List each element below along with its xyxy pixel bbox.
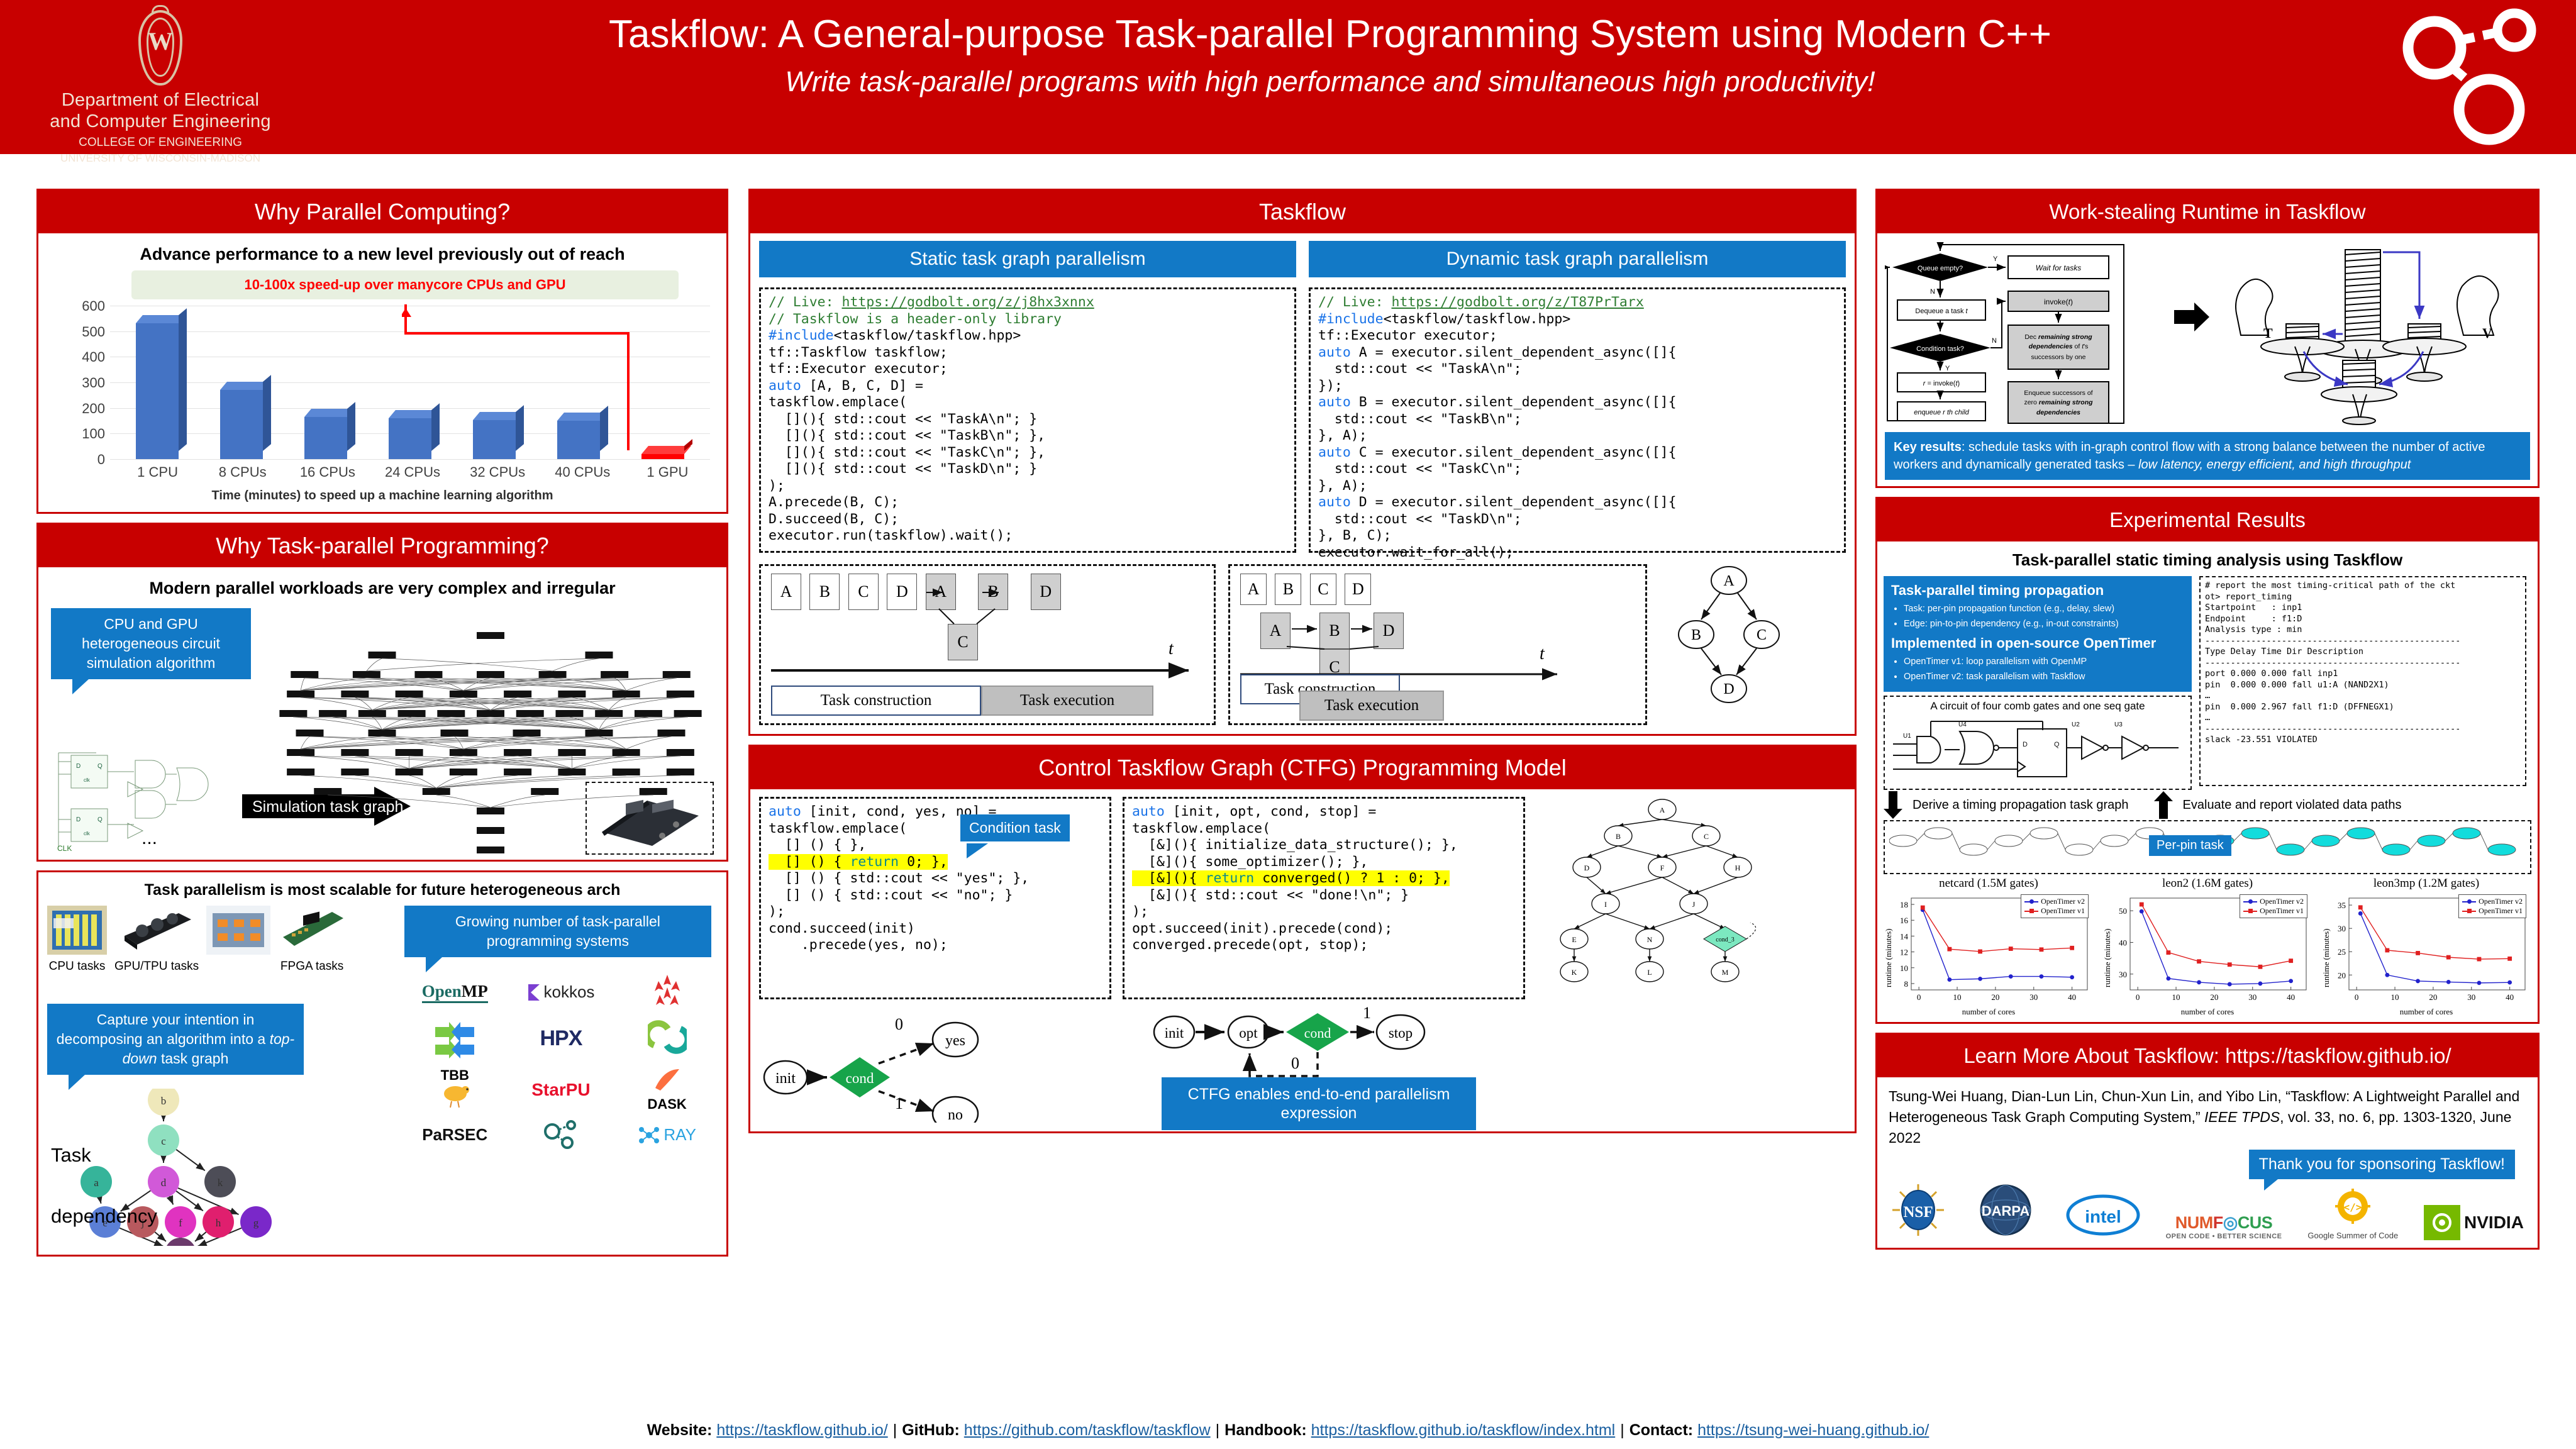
up-arrow-icon <box>2154 791 2173 819</box>
hw-label-fpga: FPGA tasks <box>278 960 346 974</box>
svg-text:35: 35 <box>2338 901 2346 910</box>
box-heading-1: Task-parallel timing propagation <box>1891 582 2184 599</box>
box-heading-2: Implemented in open-source OpenTimer <box>1891 635 2184 652</box>
y-tick-label: 100 <box>50 426 105 442</box>
svg-text:C: C <box>1704 832 1709 841</box>
svg-text:intel: intel <box>2085 1207 2121 1226</box>
poster-header: W Department of Electrical and Computer … <box>0 0 2576 154</box>
gate-label-u1: U1 <box>1903 733 1911 740</box>
footer-website-label: Website: <box>647 1421 713 1440</box>
svg-text:8: 8 <box>1904 979 1909 989</box>
colored-task-graph: Task dependency bcadkejfhgi <box>47 1089 398 1246</box>
label-evaluate-report: Evaluate and report violated data paths <box>2183 798 2402 813</box>
chart-plot: runtime (minutes)20253035010203040OpenTi… <box>2323 892 2530 1006</box>
bullet-task: Task: per-pin propagation function (e.g.… <box>1904 602 2184 615</box>
callout-tail-icon <box>967 843 992 860</box>
edge-label-0: 0 <box>895 1015 903 1033</box>
code-dynamic-task-graph: // Live: https://godbolt.org/z/T87PrTarx… <box>1309 287 1846 553</box>
down-arrow-icon <box>1884 791 1902 819</box>
x-tick-label: 32 CPUs <box>460 464 535 480</box>
bullet-v1: OpenTimer v1: loop parallelism with Open… <box>1904 655 2184 668</box>
svg-text:dependencies: dependencies <box>2036 409 2080 416</box>
flow-n-1: N <box>1930 288 1935 296</box>
tab-static-task-graph[interactable]: Static task graph parallelism <box>759 241 1296 277</box>
university-line: UNIVERSITY OF WISCONSIN-MADISON <box>38 151 283 166</box>
chart-legend: OpenTimer v2OpenTimer v1 <box>2021 894 2089 918</box>
label-task-construction: Task construction <box>771 686 981 716</box>
flow-enqueue-succ: Enqueue successors of <box>2024 389 2092 397</box>
circuit-diagram-box: A circuit of four comb gates and one seq… <box>1884 696 2192 790</box>
panel-heading: Why Parallel Computing? <box>38 191 726 233</box>
clk-label: CLK <box>57 844 72 853</box>
svg-text:50: 50 <box>2119 906 2127 916</box>
callout-heterogeneous-sim: CPU and GPU heterogeneous circuit simula… <box>51 608 251 679</box>
circuit-caption: A circuit of four comb gates and one seq… <box>1889 700 2186 713</box>
x-axis-title: number of cores <box>2104 1007 2311 1017</box>
panel-task-parallelism-scalable: Task parallelism is most scalable for fu… <box>36 870 728 1257</box>
flow-r-invoke: r = invoke(t) <box>1923 380 1960 387</box>
gpu-card-photo <box>121 906 193 955</box>
bar-8-cpus <box>220 390 263 459</box>
gate-label-u2: U2 <box>2072 721 2080 728</box>
chart-annotation-box: 10-100x speed-up over manycore CPUs and … <box>131 270 679 299</box>
svg-text:clk: clk <box>84 831 91 836</box>
chart-annotation-text: 10-100x speed-up over manycore CPUs and … <box>131 270 679 299</box>
svg-text:H: H <box>1735 863 1741 872</box>
dept-line-1: Department of Electrical <box>38 89 283 111</box>
node-cond: cond <box>846 1070 874 1086</box>
svg-text:12: 12 <box>1900 948 1908 957</box>
poster-root: W Department of Electrical and Computer … <box>0 0 2576 1449</box>
timing-propagation-box: Task-parallel timing propagation Task: p… <box>1884 576 2192 692</box>
svg-text:30: 30 <box>2248 992 2257 1002</box>
numfocus-tagline: OPEN CODE • BETTER SCIENCE <box>2166 1233 2282 1240</box>
poster-subtitle: Write task-parallel programs with high p… <box>296 58 2365 101</box>
logo-starpu: StarPU <box>531 1080 590 1100</box>
panel-subhead: Task parallelism is most scalable for fu… <box>47 881 718 899</box>
y-axis-title: runtime (minutes) <box>2102 928 2112 987</box>
svg-text:0: 0 <box>1917 992 1921 1002</box>
legend-swatch <box>2243 901 2257 902</box>
logo-google-summer-of-code: </> Google Summer of Code <box>2307 1189 2398 1240</box>
chart-plot: runtime (minutes)304050010203040OpenTime… <box>2104 892 2311 1006</box>
key-results-label: Key results <box>1894 440 1962 454</box>
middle-column: Taskflow Static task graph parallelism /… <box>748 189 1857 1142</box>
panel-heading: Experimental Results <box>1877 499 2538 541</box>
per-pin-task-graph: Per-pin task <box>1884 820 2531 874</box>
logo-kokkos: kokkos <box>527 982 594 1002</box>
svg-text:b: b <box>161 1095 167 1107</box>
flow-wait: Wait for tasks <box>2036 264 2081 272</box>
right-arrow-icon <box>2174 303 2211 331</box>
footer-handbook-label: Handbook: <box>1224 1421 1307 1440</box>
circuit-schematic-icon: D Q <box>1889 713 2182 779</box>
pin-d: D <box>2023 741 2028 748</box>
key-results-emphasis: low latency, energy efficient, and high … <box>2138 458 2411 472</box>
svg-text:f: f <box>179 1217 182 1229</box>
callout-growing-systems: Growing number of task-parallel programm… <box>404 906 711 957</box>
logo-ray: RAY <box>638 1124 696 1146</box>
svg-text:40: 40 <box>2287 992 2295 1002</box>
cpu-die-photo <box>47 906 107 955</box>
x-axis-labels: 1 CPU8 CPUs16 CPUs24 CPUs32 CPUs40 CPUs1… <box>115 464 710 480</box>
panel-subhead: Advance performance to a new level previ… <box>47 245 718 264</box>
callout-condition-task: Condition task <box>960 814 1070 841</box>
svg-text:D: D <box>76 816 80 823</box>
left-column: Why Parallel Computing? Advance performa… <box>36 189 728 1265</box>
svg-text:c: c <box>161 1135 166 1147</box>
legend-swatch <box>2024 901 2038 902</box>
chart-caption: Time (minutes) to speed up a machine lea… <box>50 489 715 503</box>
x-tick-label: 8 CPUs <box>206 464 280 480</box>
hardware-thumbnails: CPU tasks GPU/TPU tasks <box>47 906 398 974</box>
logo-nsf: NSF <box>1891 1183 1945 1240</box>
flow-dec: Dec remaining strong <box>2024 333 2092 341</box>
footer-separator: | <box>1211 1421 1225 1440</box>
svg-text:K: K <box>1572 968 1577 977</box>
footer-separator: | <box>1615 1421 1629 1440</box>
svg-text:25: 25 <box>2338 947 2346 957</box>
code-ctfg-loop: auto [init, opt, cond, stop] = taskflow.… <box>1123 797 1525 999</box>
dependency-label: dependency <box>51 1205 157 1228</box>
logo-taskflow-small <box>542 1118 580 1152</box>
legend-item: OpenTimer v2 <box>2024 897 2085 906</box>
logo-parsec: PaRSEC <box>422 1125 487 1145</box>
timeline-static: A B C D A B D C <box>759 564 1216 725</box>
nvidia-wordmark: NVIDIA <box>2464 1213 2524 1233</box>
time-axis-label: t <box>1540 644 1545 663</box>
legend-item: OpenTimer v1 <box>2462 906 2523 916</box>
bullet-v2: OpenTimer v2: task parallelism with Task… <box>1904 670 2184 683</box>
y-tick-label: 400 <box>50 349 105 365</box>
footer-separator: | <box>888 1421 902 1440</box>
flow-dequeue: Dequeue a task t <box>1915 308 1968 315</box>
y-tick-label: 200 <box>50 401 105 417</box>
svg-text:30: 30 <box>2119 970 2127 979</box>
gate-label-u4: U4 <box>1958 721 1967 728</box>
svg-text:18: 18 <box>1900 900 1908 909</box>
fpga-board-photo <box>586 782 714 855</box>
work-stealing-flowchart: Queue empty? Wait for tasks Dequeue a ta… <box>1885 240 2212 426</box>
logo-cilk <box>433 1016 477 1062</box>
university-logo: W Department of Electrical and Computer … <box>38 5 283 150</box>
node-stop: stop <box>1389 1025 1413 1041</box>
dag-node-b: B <box>1691 627 1701 643</box>
godbolt-link-dynamic[interactable]: https://godbolt.org/z/T87PrTarx <box>1392 294 1644 310</box>
footer-github-link[interactable]: https://github.com/taskflow/taskflow <box>964 1421 1211 1440</box>
svg-text:</>: </> <box>2344 1201 2362 1213</box>
label-task-execution: Task execution <box>981 686 1153 716</box>
svg-text:A: A <box>1660 806 1665 814</box>
code-comment-live: // Live: <box>1318 294 1392 310</box>
panel-heading: Taskflow <box>750 191 1855 233</box>
pin-q: Q <box>2054 741 2060 748</box>
footer-contact-link[interactable]: https://tsung-wei-huang.github.io/ <box>1697 1421 1929 1440</box>
svg-text:20: 20 <box>2429 992 2437 1002</box>
footer-website-link[interactable]: https://taskflow.github.io/ <box>716 1421 887 1440</box>
node-opt: opt <box>1239 1025 1258 1041</box>
y-axis-title: runtime (minutes) <box>1884 928 1894 987</box>
svg-text:10: 10 <box>2391 992 2399 1002</box>
legend-item: OpenTimer v1 <box>2243 906 2304 916</box>
code-dynamic-body: #include<taskflow/taskflow.hpp> tf::Exec… <box>1318 311 1677 560</box>
svg-text:20: 20 <box>2210 992 2218 1002</box>
callout-per-pin-task: Per-pin task <box>2149 835 2231 856</box>
svg-text:10: 10 <box>2172 992 2180 1002</box>
svg-text:30: 30 <box>2338 924 2346 933</box>
crest-letter: W <box>136 26 185 56</box>
panel-taskflow: Taskflow Static task graph parallelism /… <box>748 189 1857 736</box>
poster-footer: Website: https://taskflow.github.io/ | G… <box>0 1411 2576 1449</box>
callout-capture-intention: Capture your intention in decomposing an… <box>47 1004 304 1075</box>
svg-text:L: L <box>1647 968 1652 977</box>
annotation-arrow-icon <box>402 298 666 465</box>
y-tick-label: 0 <box>50 452 105 468</box>
panel-heading: Why Task-parallel Programming? <box>38 525 726 567</box>
logo-charm <box>648 1020 687 1057</box>
reference-journal: IEEE TPDS <box>2204 1109 2280 1125</box>
system-logos: OpenMP kokkos <box>404 974 718 1152</box>
poster-title: Taskflow: A General-purpose Task-paralle… <box>296 5 2365 58</box>
svg-text:40: 40 <box>2068 992 2076 1002</box>
label-derive-task-graph: Derive a timing propagation task graph <box>1913 798 2129 813</box>
svg-text:d: d <box>161 1177 167 1189</box>
right-column: Work-stealing Runtime in Taskflow Queue … <box>1875 189 2540 1258</box>
logo-darpa: DARPA <box>1971 1183 2040 1240</box>
legend-label: OpenTimer v1 <box>2041 906 2085 916</box>
bar-1-cpu <box>136 323 179 459</box>
panel-subhead: Task-parallel static timing analysis usi… <box>1884 550 2531 570</box>
task-dag-abcd: A B C D <box>1660 564 1798 709</box>
svg-text:DARPA: DARPA <box>1982 1203 2030 1219</box>
svg-text:N: N <box>1647 935 1653 944</box>
logo-legion <box>650 974 685 1011</box>
svg-text:a: a <box>94 1177 99 1189</box>
time-axis-label: t <box>1169 639 1174 658</box>
node-yes: yes <box>945 1033 965 1049</box>
fpga-photo <box>278 906 346 955</box>
panel-heading: Work-stealing Runtime in Taskflow <box>1877 191 2538 233</box>
footer-handbook-link[interactable]: https://taskflow.github.io/taskflow/inde… <box>1311 1421 1616 1440</box>
node-init: init <box>1165 1025 1184 1041</box>
footer-github-label: GitHub: <box>902 1421 960 1440</box>
logo-nvidia: NVIDIA <box>2424 1205 2524 1240</box>
node-init: init <box>775 1070 796 1087</box>
edge-label-1: 1 <box>895 1094 903 1113</box>
uw-crest-icon: W <box>136 5 185 87</box>
svg-text:successors by one: successors by one <box>2031 353 2086 361</box>
task-label: Task <box>51 1144 91 1167</box>
svg-text:Q: Q <box>97 763 103 770</box>
line-charts-row: netcard (1.5M gates)runtime (minutes)810… <box>1884 874 2531 1017</box>
legend-swatch <box>2024 911 2038 912</box>
svg-text:10: 10 <box>1900 963 1908 973</box>
footer-contact-label: Contact: <box>1629 1421 1693 1440</box>
gate-label-u3: U3 <box>2114 721 2123 728</box>
legend-label: OpenTimer v2 <box>2041 897 2085 906</box>
code-comment-live: // Live: <box>769 294 842 310</box>
panel-heading: Control Taskflow Graph (CTFG) Programmin… <box>750 747 1855 789</box>
panel-learn-more: Learn More About Taskflow: https://taskf… <box>1875 1033 2540 1250</box>
y-tick-label: 500 <box>50 324 105 340</box>
svg-text:D: D <box>76 763 80 770</box>
ctfg-full-graph: ABCDFHIJENcond_3KLM <box>1536 797 1838 999</box>
legend-label: OpenTimer v2 <box>2260 897 2304 906</box>
callout-text-pre: Capture your intention in decomposing an… <box>57 1011 270 1047</box>
ellipsis-label: ... <box>142 828 157 849</box>
node-no: no <box>948 1107 963 1123</box>
worker-label-t: T <box>2263 325 2273 341</box>
svg-text:zero remaining strong: zero remaining strong <box>2024 399 2093 406</box>
legend-item: OpenTimer v2 <box>2243 897 2304 906</box>
flow-y-2: Y <box>1945 365 1950 372</box>
svg-text:cond_3: cond_3 <box>1716 936 1734 943</box>
panel-heading: Learn More About Taskflow: https://taskf… <box>1877 1035 2538 1077</box>
line-chart-leon2: leon2 (1.6M gates)runtime (minutes)30405… <box>2104 877 2311 1017</box>
x-tick-label: 40 CPUs <box>545 464 619 480</box>
bullet-edge: Edge: pin-to-pin dependency (e.g., in-ou… <box>1904 618 2184 630</box>
svg-text:I: I <box>1604 900 1607 909</box>
edge-label-0: 0 <box>1291 1054 1299 1072</box>
svg-text:E: E <box>1572 935 1576 944</box>
taskflow-logo-icon <box>2368 4 2557 148</box>
x-axis-title: number of cores <box>2323 1007 2530 1017</box>
svg-text:20: 20 <box>1991 992 1999 1002</box>
title-block: Taskflow: A General-purpose Task-paralle… <box>296 5 2365 101</box>
line-chart-netcard: netcard (1.5M gates)runtime (minutes)810… <box>1885 877 2092 1017</box>
y-tick-label: 600 <box>50 298 105 314</box>
logo-numfocus: NUMF◎CUS OPEN CODE • BETTER SCIENCE <box>2166 1213 2282 1240</box>
chart-legend: OpenTimer v2OpenTimer v1 <box>2458 894 2526 918</box>
panel-why-parallel-computing: Why Parallel Computing? Advance performa… <box>36 189 728 514</box>
svg-text:M: M <box>1722 968 1729 977</box>
svg-text:30: 30 <box>2029 992 2038 1002</box>
svg-text:Q: Q <box>97 816 103 823</box>
x-tick-label: 24 CPUs <box>375 464 450 480</box>
thanks-banner: Thank you for sponsoring Taskflow! <box>2249 1150 2515 1179</box>
hw-label-gpu: GPU/TPU tasks <box>114 960 199 974</box>
y-axis-title: runtime (minutes) <box>2321 928 2331 987</box>
flow-n-2: N <box>1992 337 1997 345</box>
logo-hpx: HPX <box>540 1026 582 1051</box>
legend-label: OpenTimer v2 <box>2479 897 2523 906</box>
line-chart-leon3mp: leon3mp (1.2M gates)runtime (minutes)202… <box>2323 877 2530 1017</box>
banner-ctfg-parallelism: CTFG enables end-to-end parallelism expr… <box>1162 1077 1476 1130</box>
chart-plot: runtime (minutes)81012141618010203040Ope… <box>1885 892 2092 1006</box>
x-axis-title: number of cores <box>1885 1007 2092 1017</box>
code-static-body: #include<taskflow/taskflow.hpp> tf::Task… <box>769 328 1045 543</box>
godbolt-link-static[interactable]: https://godbolt.org/z/j8hx3xnnx <box>842 294 1094 310</box>
chart-legend: OpenTimer v2OpenTimer v1 <box>2240 894 2307 918</box>
flow-condition: Condition task? <box>1916 345 1964 353</box>
logo-intel: intel <box>2066 1193 2140 1240</box>
legend-item: OpenTimer v1 <box>2024 906 2085 916</box>
dag-node-c: C <box>1757 627 1767 643</box>
flow-invoke: invoke(t) <box>2044 297 2073 306</box>
dept-line-2: and Computer Engineering <box>38 111 283 132</box>
svg-text:J: J <box>1692 900 1696 909</box>
key-results-banner: Key results: schedule tasks with in-grap… <box>1885 432 2530 480</box>
svg-text:g: g <box>253 1217 259 1229</box>
legend-label: OpenTimer v1 <box>2479 906 2523 916</box>
x-tick-label: 1 CPU <box>121 464 195 480</box>
x-tick-label: 16 CPUs <box>291 464 365 480</box>
tab-dynamic-task-graph[interactable]: Dynamic task graph parallelism <box>1309 241 1846 277</box>
svg-text:NSF: NSF <box>1903 1204 1933 1221</box>
legend-swatch <box>2462 911 2476 912</box>
svg-text:h: h <box>216 1217 221 1229</box>
hw-label-cpu: CPU tasks <box>47 960 107 974</box>
label-task-execution: Task execution <box>1299 691 1444 721</box>
svg-text:0: 0 <box>2136 992 2140 1002</box>
college-line: COLLEGE OF ENGINEERING <box>38 135 283 151</box>
svg-text:B: B <box>1616 832 1621 841</box>
svg-text:20: 20 <box>2338 970 2346 980</box>
tpu-photo <box>206 906 270 955</box>
code-comment-header-only: // Taskflow is a header-only library <box>769 311 1062 327</box>
logo-tbb: TBB <box>436 1067 473 1112</box>
svg-text:10: 10 <box>1953 992 1962 1002</box>
flow-y-1: Y <box>1993 255 1998 263</box>
reference-citation: Tsung-Wei Huang, Dian-Lun Lin, Chun-Xun … <box>1881 1080 2534 1150</box>
bar-chart-speedup: 10-100x speed-up over manycore CPUs and … <box>50 270 715 503</box>
timeline-dynamic: A B C D A B D C <box>1228 564 1647 725</box>
legend-swatch <box>2243 911 2257 912</box>
svg-text:16: 16 <box>1900 916 1909 925</box>
logo-openmp: OpenMP <box>422 982 488 1003</box>
chart-title: netcard (1.5M gates) <box>1885 877 2092 891</box>
flow-enqueue-child: enqueue r th child <box>1914 409 1969 416</box>
terminal-report-output: # report the most timing-critical path o… <box>2199 576 2526 786</box>
callout-text-post: task graph <box>157 1050 229 1067</box>
svg-text:0: 0 <box>2355 992 2359 1002</box>
svg-text:F: F <box>1660 863 1665 872</box>
svg-text:clk: clk <box>84 777 91 783</box>
ctfg-graph-yesno: init cond yes no 0 1 <box>759 1003 1149 1123</box>
code-static-task-graph: // Live: https://godbolt.org/z/j8hx3xnnx… <box>759 287 1296 553</box>
panel-work-stealing: Work-stealing Runtime in Taskflow Queue … <box>1875 189 2540 488</box>
svg-text:40: 40 <box>2506 992 2514 1002</box>
sponsor-logos: NSF DARPA <box>1881 1179 2534 1244</box>
worker-label-v: V <box>2482 325 2492 341</box>
node-cond: cond <box>1304 1025 1331 1041</box>
panel-subhead: Modern parallel workloads are very compl… <box>47 579 718 598</box>
y-tick-label: 300 <box>50 375 105 391</box>
chart-title: leon3mp (1.2M gates) <box>2323 877 2530 891</box>
work-stealing-illustration: T V <box>2212 243 2526 426</box>
dag-node-d: D <box>1723 681 1734 697</box>
legend-swatch <box>2462 901 2476 902</box>
legend-label: OpenTimer v1 <box>2260 906 2304 916</box>
svg-text:30: 30 <box>2467 992 2475 1002</box>
gsoc-label: Google Summer of Code <box>2307 1231 2398 1240</box>
logo-dask: DASK <box>647 1067 686 1113</box>
bar-16-cpus <box>304 417 347 459</box>
panel-why-task-parallel: Why Task-parallel Programming? Modern pa… <box>36 523 728 862</box>
x-tick-label: 1 GPU <box>630 464 704 480</box>
svg-text:40: 40 <box>2119 938 2127 947</box>
svg-text:D: D <box>1584 863 1590 872</box>
panel-ctfg: Control Taskflow Graph (CTFG) Programmin… <box>748 745 1857 1133</box>
flow-queue-empty: Queue empty? <box>1918 265 1963 272</box>
legend-item: OpenTimer v2 <box>2462 897 2523 906</box>
dag-node-a: A <box>1723 573 1735 589</box>
panel-experimental-results: Experimental Results Task-parallel stati… <box>1875 497 2540 1024</box>
edge-label-1: 1 <box>1363 1004 1371 1022</box>
chart-title: leon2 (1.6M gates) <box>2104 877 2311 891</box>
svg-text:k: k <box>218 1177 223 1189</box>
svg-text:14: 14 <box>1900 931 1909 941</box>
